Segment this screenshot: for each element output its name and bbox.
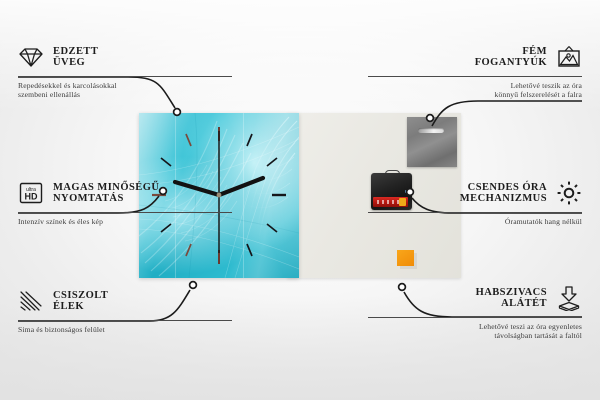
foam-pad-icon — [556, 285, 582, 311]
divider — [18, 76, 232, 77]
feature-metal-handles: FÉM FOGANTYÚK Lehetővé teszik az óra kön… — [368, 42, 582, 100]
divider — [18, 320, 232, 321]
hanger-slot — [418, 128, 444, 133]
feature-desc-line2: könnyű felszerelését a falra — [368, 90, 582, 99]
diamond-icon — [18, 44, 44, 70]
feature-high-quality-print: ultra HD MAGAS MINŐSÉGŰ NYOMTATÁS Intenz… — [18, 178, 232, 226]
svg-text:HD: HD — [25, 192, 38, 202]
metal-hanger-plate — [407, 117, 457, 167]
feature-desc-line1: Lehetővé teszi az óra egyenletes — [368, 322, 582, 331]
feature-title: MAGAS MINŐSÉGŰ NYOMTATÁS — [53, 182, 159, 205]
divider — [368, 212, 582, 213]
foam-pad — [397, 250, 414, 266]
divider — [368, 76, 582, 77]
feature-desc-line2: távolságban tartását a faltól — [368, 331, 582, 340]
infographic-canvas: EDZETT ÜVEG Repedésekkel és karcolásokka… — [0, 0, 600, 400]
feature-polished-edges: CSISZOLT ÉLEK Sima és biztonságos felüle… — [18, 286, 232, 334]
gear-icon — [556, 180, 582, 206]
divider — [368, 317, 582, 318]
feature-title: HABSZIVACS ALÁTÉT — [476, 287, 547, 310]
feature-title: FÉM FOGANTYÚK — [475, 46, 547, 69]
feature-silent-mechanism: CSENDES ÓRA MECHANIZMUS Óramutatók hang … — [368, 178, 582, 226]
feature-foam-spacer: HABSZIVACS ALÁTÉT Lehetővé teszi az óra … — [368, 283, 582, 341]
feature-title: EDZETT ÜVEG — [53, 46, 98, 69]
ultra-hd-icon: ultra HD — [18, 180, 44, 206]
feature-desc-line1: Intenzív színek és éles kép — [18, 217, 232, 226]
feature-desc-line1: Sima és biztonságos felület — [18, 325, 232, 334]
feature-tempered-glass: EDZETT ÜVEG Repedésekkel és karcolásokka… — [18, 42, 232, 100]
divider — [18, 212, 232, 213]
feature-title: CSENDES ÓRA MECHANIZMUS — [460, 182, 547, 205]
feature-desc-line1: Repedésekkel és karcolásokkal — [18, 81, 232, 90]
picture-hanger-icon — [556, 44, 582, 70]
feature-desc-line2: szembeni ellenállás — [18, 90, 232, 99]
feature-title: CSISZOLT ÉLEK — [53, 290, 108, 313]
feature-desc-line1: Óramutatók hang nélkül — [368, 217, 582, 226]
feature-desc-line1: Lehetővé teszik az óra — [368, 81, 582, 90]
polished-edges-icon — [18, 288, 44, 314]
